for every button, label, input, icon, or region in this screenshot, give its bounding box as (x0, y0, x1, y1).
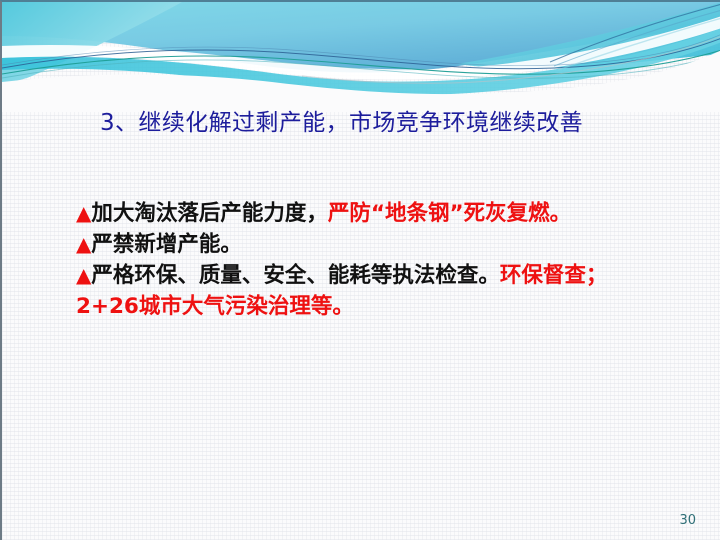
list-item-text-highlight: 严防“地条钢”死灰复燃。 (328, 201, 571, 226)
slide-content: 3、继续化解过剩产能，市场竞争环境继续改善 ▲加大淘汰落后产能力度，严防“地条钢… (2, 2, 720, 540)
list-item-continuation: 2+26城市大气污染治理等。 (76, 291, 676, 322)
list-item-text-highlight: 2+26城市大气污染治理等。 (76, 294, 354, 319)
triangle-bullet-icon: ▲ (76, 263, 91, 287)
bullet-list: ▲加大淘汰落后产能力度，严防“地条钢”死灰复燃。 ▲严禁新增产能。 ▲严格环保、… (76, 198, 676, 322)
list-item-text-primary: 严禁新增产能。 (91, 232, 242, 257)
list-item: ▲加大淘汰落后产能力度，严防“地条钢”死灰复燃。 (76, 198, 676, 229)
list-item: ▲严格环保、质量、安全、能耗等执法检查。环保督查； (76, 260, 676, 291)
presentation-slide: 3、继续化解过剩产能，市场竞争环境继续改善 ▲加大淘汰落后产能力度，严防“地条钢… (0, 0, 720, 540)
list-item-text-primary: 加大淘汰落后产能力度， (91, 201, 328, 226)
page-title: 3、继续化解过剩产能，市场竞争环境继续改善 (100, 106, 583, 140)
list-item-text-highlight: 环保督查； (500, 263, 608, 288)
list-item-text-primary: 严格环保、质量、安全、能耗等执法检查。 (91, 263, 500, 288)
list-item: ▲严禁新增产能。 (76, 229, 676, 260)
triangle-bullet-icon: ▲ (76, 232, 91, 256)
triangle-bullet-icon: ▲ (76, 201, 91, 225)
page-number: 30 (679, 513, 696, 528)
